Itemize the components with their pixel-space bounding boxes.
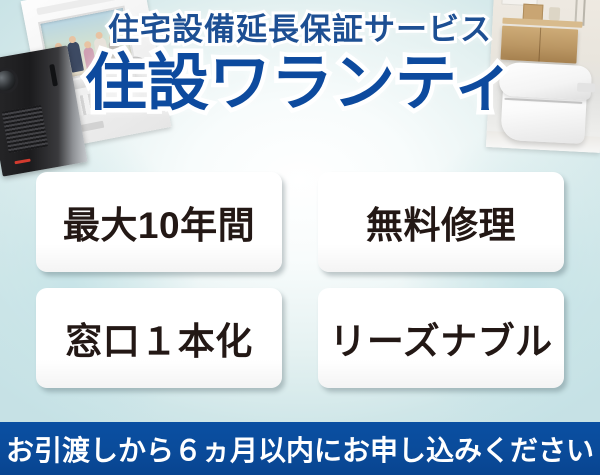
feature-label: リーズナブル <box>329 311 552 365</box>
promo-banner: 住宅設備延長保証サービス 住設ワランティ 最大10年間 無料修理 窓口１本化 リ… <box>0 0 600 475</box>
station-indicator <box>14 159 30 165</box>
feature-box-reasonable[interactable]: リーズナブル <box>318 288 564 388</box>
feature-box-free-repair[interactable]: 無料修理 <box>318 172 564 272</box>
feature-label: 無料修理 <box>366 195 516 249</box>
toilet-lid <box>499 62 593 101</box>
footer-cta-text: お引渡しから６ヵ月以内にお申し込みください <box>6 429 594 469</box>
feature-box-duration[interactable]: 最大10年間 <box>36 172 282 272</box>
toilet-room-photo <box>486 0 600 153</box>
feature-box-single-contact[interactable]: 窓口１本化 <box>36 288 282 388</box>
cabinet-divider <box>538 28 541 62</box>
towel-rod <box>582 0 586 26</box>
screen-figure <box>108 39 122 64</box>
footer-cta-bar[interactable]: お引渡しから６ヵ月以内にお申し込みください <box>0 422 600 475</box>
toilet-control-panel <box>577 83 595 93</box>
camera-lens-icon <box>0 69 17 92</box>
shelf-jar <box>549 7 561 21</box>
station-slot <box>49 64 58 87</box>
wall-cabinet <box>500 26 578 64</box>
feature-label: 最大10年間 <box>63 195 255 249</box>
feature-grid: 最大10年間 無料修理 窓口１本化 リーズナブル <box>36 172 564 388</box>
feature-label: 窓口１本化 <box>65 311 253 365</box>
station-speaker-grille <box>2 105 49 153</box>
towel-rod <box>574 0 577 23</box>
